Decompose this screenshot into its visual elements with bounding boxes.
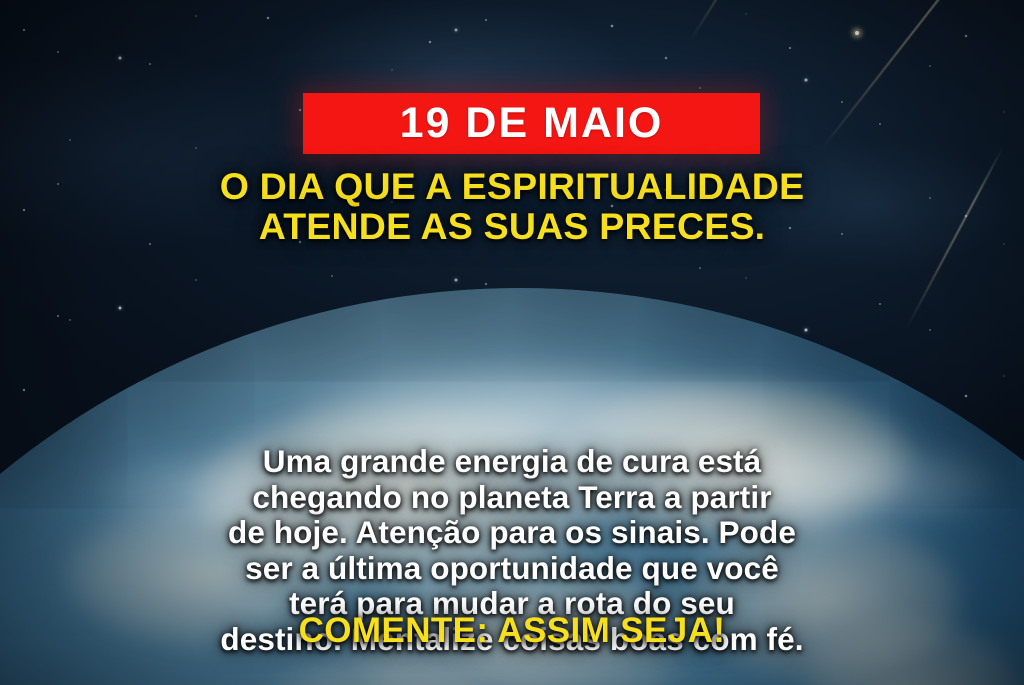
call-to-action-text: COMENTE: ASSIM SEJA!: [0, 612, 1024, 650]
body-line-2: chegando no planeta Terra a partir: [0, 480, 1024, 516]
social-media-poster: 19 DE MAIO O DIA QUE A ESPIRITUALIDADE A…: [0, 0, 1024, 685]
date-banner-label: 19 DE MAIO: [400, 102, 664, 145]
body-line-3: de hoje. Atenção para os sinais. Pode: [0, 515, 1024, 551]
body-line-1: Uma grande energia de cura está: [0, 444, 1024, 480]
headline-line-2: ATENDE AS SUAS PRECES.: [0, 206, 1024, 246]
body-line-4: ser a última oportunidade que você: [0, 551, 1024, 587]
poster-content: 19 DE MAIO O DIA QUE A ESPIRITUALIDADE A…: [0, 0, 1024, 685]
headline: O DIA QUE A ESPIRITUALIDADE ATENDE AS SU…: [0, 166, 1024, 246]
date-banner: 19 DE MAIO: [303, 93, 760, 154]
headline-line-1: O DIA QUE A ESPIRITUALIDADE: [0, 166, 1024, 206]
